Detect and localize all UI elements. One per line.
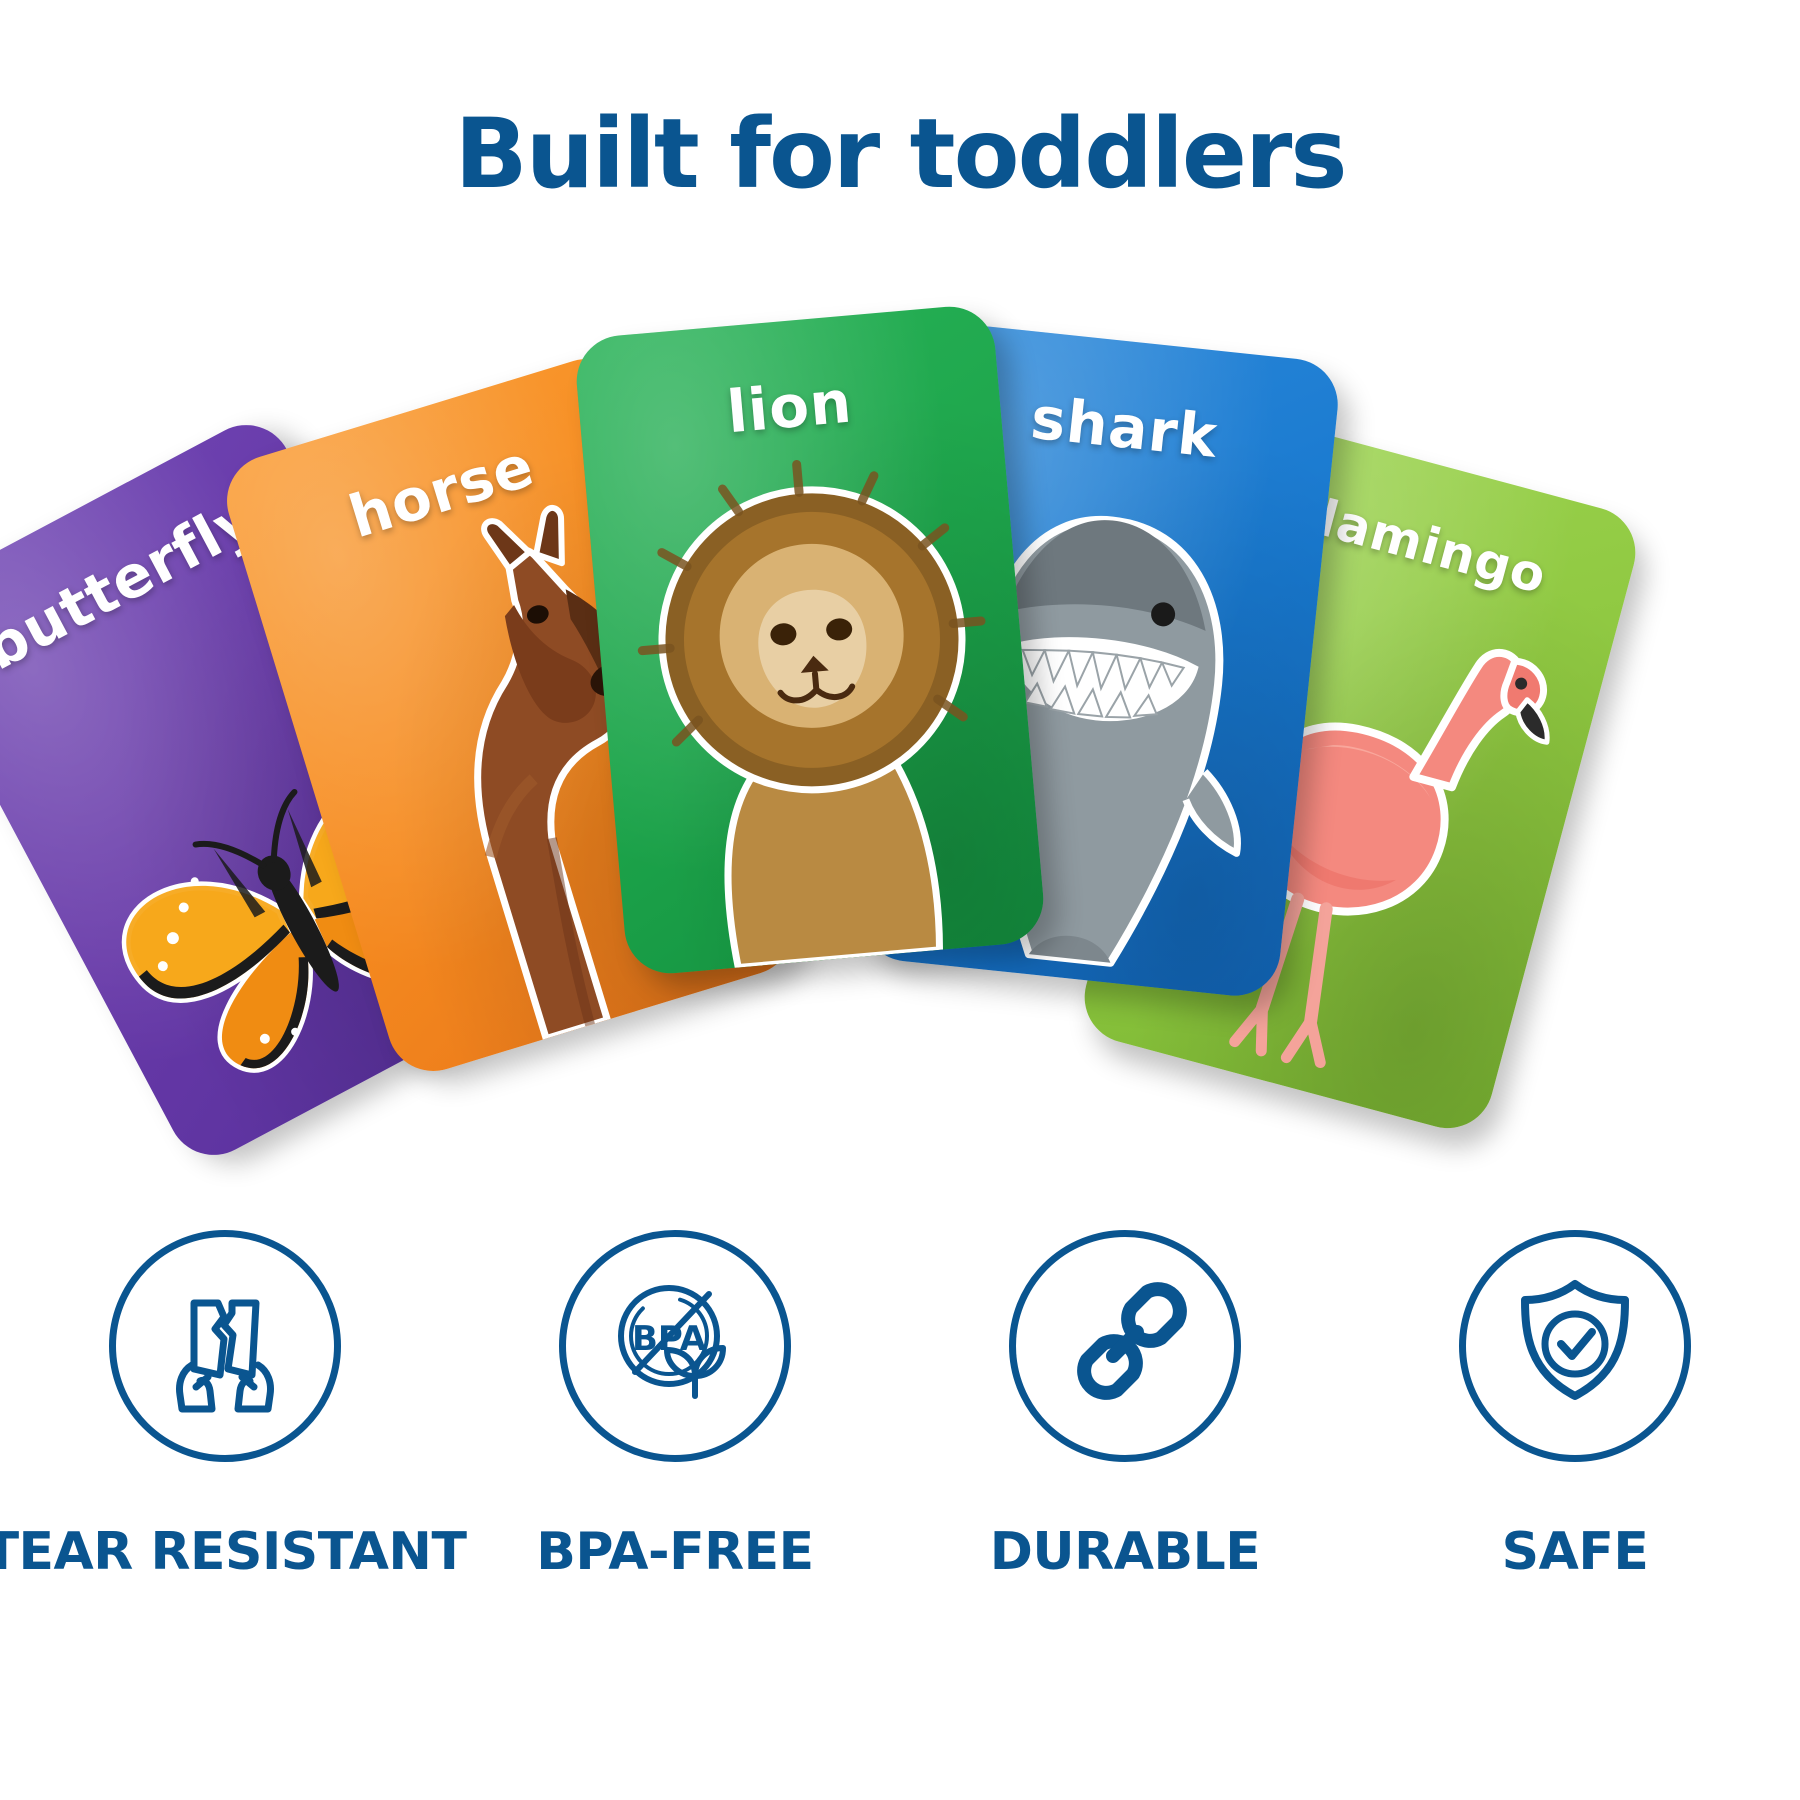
feature-label-tear-resistant: TEAR RESISTANT: [0, 1522, 466, 1582]
feature-label-safe: SAFE: [1502, 1522, 1649, 1582]
feature-bpa-free[interactable]: BPA BPA-FREE: [485, 1230, 865, 1582]
feature-tear-resistant[interactable]: TEAR RESISTANT: [35, 1230, 415, 1582]
page-title: Built for toddlers: [0, 98, 1800, 210]
tear-resistant-ring: [109, 1230, 341, 1462]
feature-label-bpa-free: BPA-FREE: [536, 1522, 813, 1582]
tear-resistant-icon: [150, 1269, 300, 1424]
flashcard-lion[interactable]: lion: [573, 303, 1047, 977]
flashcard-fan: butterfly: [0, 300, 1800, 1200]
safe-shield-icon: [1505, 1272, 1645, 1421]
durable-ring: [1009, 1230, 1241, 1462]
safe-ring: [1459, 1230, 1691, 1462]
durable-chain-icon: [1055, 1274, 1195, 1419]
bpa-free-icon: BPA: [599, 1268, 751, 1425]
feature-badges: TEAR RESISTANT BPA BPA-FREE: [0, 1230, 1800, 1582]
feature-durable[interactable]: DURABLE: [935, 1230, 1315, 1582]
feature-label-durable: DURABLE: [990, 1522, 1260, 1582]
lion-art: [583, 422, 1047, 977]
feature-safe[interactable]: SAFE: [1385, 1230, 1765, 1582]
bpa-free-ring: BPA: [559, 1230, 791, 1462]
